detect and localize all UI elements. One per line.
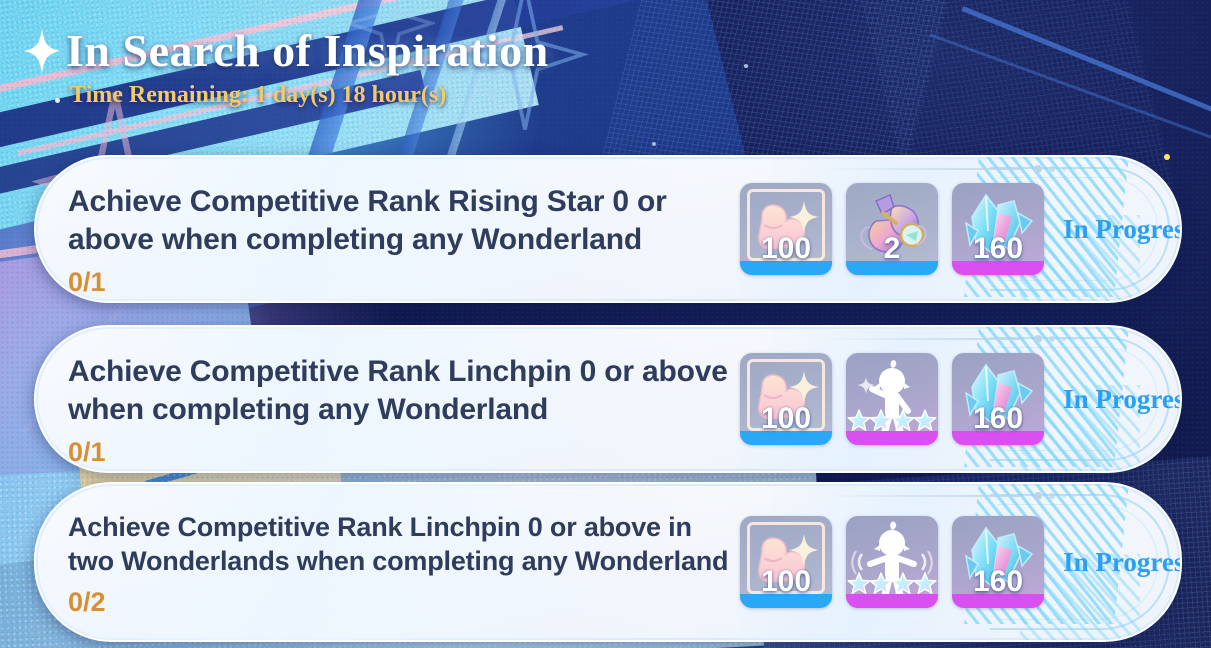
- reward-count: 100: [740, 404, 832, 434]
- task-progress-counter: 0/1: [68, 267, 736, 298]
- sparkle-star-icon: [22, 26, 62, 76]
- task-status-label: In Progress: [1054, 214, 1182, 244]
- reward-count: 160: [952, 234, 1044, 264]
- task-card-body: Achieve Competitive Rank Linchpin 0 or a…: [36, 327, 1180, 471]
- reward-item[interactable]: 160: [952, 183, 1044, 275]
- task-info: Achieve Competitive Rank Rising Star 0 o…: [36, 157, 736, 298]
- reward-count: 2: [846, 234, 938, 264]
- reward-item[interactable]: 100: [740, 183, 832, 275]
- task-rewards-area: 100: [736, 327, 1182, 471]
- task-description: Achieve Competitive Rank Linchpin 0 or a…: [68, 353, 736, 429]
- task-rewards-area: 100: [736, 484, 1182, 640]
- task-rewards-area: 100 2 160In Pr: [736, 157, 1182, 301]
- task-description: Achieve Competitive Rank Linchpin 0 or a…: [68, 510, 736, 579]
- reward-item[interactable]: 100: [740, 516, 832, 608]
- task-info: Achieve Competitive Rank Linchpin 0 or a…: [36, 327, 736, 468]
- reward-count: 100: [740, 234, 832, 264]
- page-header: In Search of Inspiration Time Remaining:…: [0, 0, 549, 109]
- reward-item[interactable]: 100: [740, 353, 832, 445]
- reward-list: 100: [740, 353, 1044, 445]
- task-info: Achieve Competitive Rank Linchpin 0 or a…: [36, 484, 736, 618]
- task-card[interactable]: Achieve Competitive Rank Rising Star 0 o…: [34, 155, 1182, 303]
- task-card[interactable]: Achieve Competitive Rank Linchpin 0 or a…: [34, 325, 1182, 473]
- reward-rarity-bar: [846, 594, 938, 608]
- task-progress-counter: 0/2: [68, 587, 736, 618]
- reward-count: 160: [952, 404, 1044, 434]
- reward-item[interactable]: 2: [846, 183, 938, 275]
- rarity-stars: [848, 571, 936, 596]
- reward-rarity-bar: [846, 431, 938, 445]
- reward-item[interactable]: 160: [952, 353, 1044, 445]
- rarity-stars: [848, 408, 936, 433]
- task-description: Achieve Competitive Rank Rising Star 0 o…: [68, 183, 736, 259]
- task-card-body: Achieve Competitive Rank Rising Star 0 o…: [36, 157, 1180, 301]
- time-remaining-label: Time Remaining: 1 day(s) 18 hour(s): [70, 82, 549, 109]
- reward-list: 100 2 160: [740, 183, 1044, 275]
- task-card-body: Achieve Competitive Rank Linchpin 0 or a…: [36, 484, 1180, 640]
- background-sparkle-dot-2: [744, 64, 748, 68]
- task-progress-counter: 0/1: [68, 437, 736, 468]
- reward-item[interactable]: [846, 516, 938, 608]
- task-status-label: In Progress: [1054, 547, 1182, 577]
- reward-item[interactable]: 160: [952, 516, 1044, 608]
- title-row: In Search of Inspiration: [22, 26, 549, 76]
- reward-item[interactable]: [846, 353, 938, 445]
- task-status-label: In Progress: [1054, 384, 1182, 414]
- reward-count: 100: [740, 567, 832, 597]
- reward-list: 100: [740, 516, 1044, 608]
- task-card[interactable]: Achieve Competitive Rank Linchpin 0 or a…: [34, 482, 1182, 642]
- reward-count: 160: [952, 567, 1044, 597]
- background-sparkle-dot-3: [652, 142, 656, 146]
- page-title: In Search of Inspiration: [66, 28, 549, 74]
